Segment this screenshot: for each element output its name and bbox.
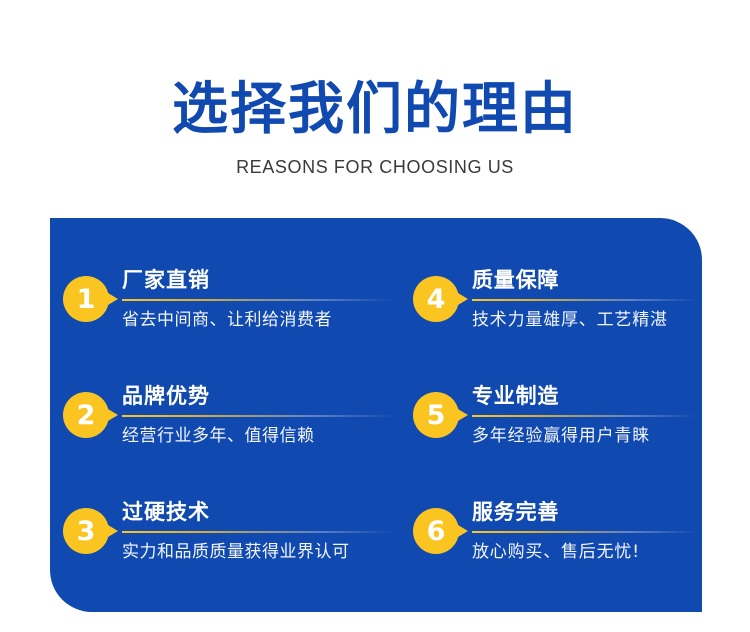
reason-description-2: 经营行业多年、值得信赖 bbox=[122, 424, 394, 448]
reason-body-2: 品牌优势 经营行业多年、值得信赖 bbox=[122, 383, 400, 448]
reason-badge-wrap-5: 5 bbox=[400, 357, 472, 473]
reason-divider-6 bbox=[472, 531, 696, 533]
reason-badge-wrap-6: 6 bbox=[400, 473, 472, 589]
reasons-column-right: 4 质量保障 技术力量雄厚、工艺精湛 5 专业制造 多年经 bbox=[400, 218, 702, 612]
page-subtitle: REASONS FOR CHOOSING US bbox=[0, 156, 750, 178]
reason-description-5: 多年经验赢得用户青睐 bbox=[472, 424, 696, 448]
reason-badge-wrap-2: 2 bbox=[50, 357, 122, 473]
number-badge-icon-3: 3 bbox=[63, 508, 109, 554]
reason-title-4: 质量保障 bbox=[472, 267, 696, 293]
reason-description-6: 放心购买、售后无忧! bbox=[472, 540, 696, 564]
page-title: 选择我们的理由 bbox=[0, 78, 750, 142]
reason-item-5: 5 专业制造 多年经验赢得用户青睐 bbox=[400, 357, 702, 473]
reason-description-3: 实力和品质质量获得业界认可 bbox=[122, 540, 394, 564]
promo-banner: 选择我们的理由 REASONS FOR CHOOSING US 1 厂家直销 省… bbox=[0, 0, 750, 632]
reason-body-6: 服务完善 放心购买、售后无忧! bbox=[472, 499, 702, 564]
reason-body-5: 专业制造 多年经验赢得用户青睐 bbox=[472, 383, 702, 448]
reason-body-3: 过硬技术 实力和品质质量获得业界认可 bbox=[122, 499, 400, 564]
reason-divider-3 bbox=[122, 531, 394, 533]
reason-badge-wrap-3: 3 bbox=[50, 473, 122, 589]
reason-item-2: 2 品牌优势 经营行业多年、值得信赖 bbox=[50, 357, 400, 473]
reason-title-5: 专业制造 bbox=[472, 383, 696, 409]
reason-body-4: 质量保障 技术力量雄厚、工艺精湛 bbox=[472, 267, 702, 332]
number-badge-icon-4: 4 bbox=[413, 276, 459, 322]
number-badge-icon-6: 6 bbox=[413, 508, 459, 554]
reason-divider-5 bbox=[472, 415, 696, 417]
reason-badge-wrap-4: 4 bbox=[400, 241, 472, 357]
reason-divider-1 bbox=[122, 299, 394, 301]
reasons-panel: 1 厂家直销 省去中间商、让利给消费者 2 品牌优势 经营 bbox=[50, 218, 702, 612]
reason-title-1: 厂家直销 bbox=[122, 267, 394, 293]
reason-divider-4 bbox=[472, 299, 696, 301]
reason-description-1: 省去中间商、让利给消费者 bbox=[122, 308, 394, 332]
reason-description-4: 技术力量雄厚、工艺精湛 bbox=[472, 308, 696, 332]
reason-body-1: 厂家直销 省去中间商、让利给消费者 bbox=[122, 267, 400, 332]
number-badge-icon-5: 5 bbox=[413, 392, 459, 438]
reasons-columns: 1 厂家直销 省去中间商、让利给消费者 2 品牌优势 经营 bbox=[50, 218, 702, 612]
reason-title-6: 服务完善 bbox=[472, 499, 696, 525]
reason-divider-2 bbox=[122, 415, 394, 417]
header: 选择我们的理由 REASONS FOR CHOOSING US bbox=[0, 78, 750, 178]
reason-item-6: 6 服务完善 放心购买、售后无忧! bbox=[400, 473, 702, 589]
reason-item-1: 1 厂家直销 省去中间商、让利给消费者 bbox=[50, 241, 400, 357]
number-badge-icon-2: 2 bbox=[63, 392, 109, 438]
reason-title-3: 过硬技术 bbox=[122, 499, 394, 525]
reasons-column-left: 1 厂家直销 省去中间商、让利给消费者 2 品牌优势 经营 bbox=[50, 218, 400, 612]
reason-badge-wrap-1: 1 bbox=[50, 241, 122, 357]
reason-item-3: 3 过硬技术 实力和品质质量获得业界认可 bbox=[50, 473, 400, 589]
reason-item-4: 4 质量保障 技术力量雄厚、工艺精湛 bbox=[400, 241, 702, 357]
number-badge-icon-1: 1 bbox=[63, 276, 109, 322]
reason-title-2: 品牌优势 bbox=[122, 383, 394, 409]
